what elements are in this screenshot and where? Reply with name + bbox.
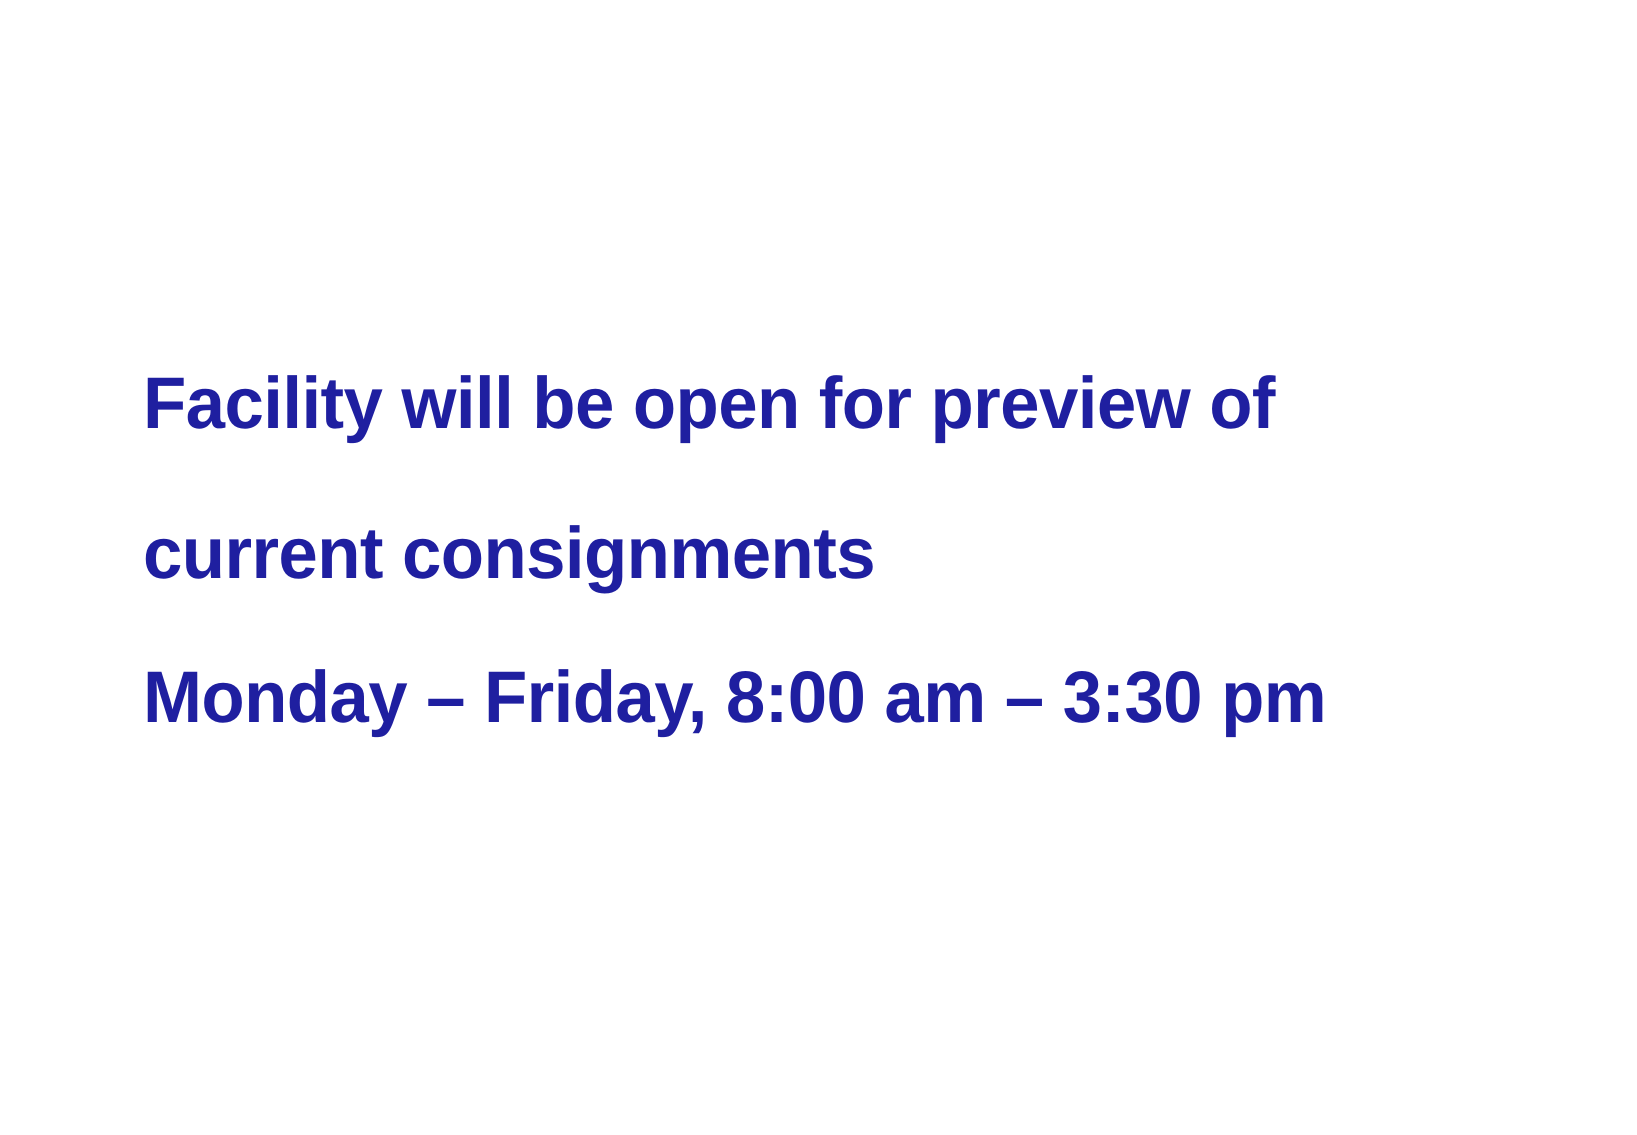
notice-line-days-and-hours: Monday – Friday, 8:00 am – 3:30 pm — [143, 624, 1540, 772]
notice-line-facility-open: Facility will be open for preview of — [143, 330, 1540, 478]
notice-line-current-consignments: current consignments — [143, 480, 1540, 628]
facility-hours-notice: Facility will be open for preview of cur… — [143, 330, 1583, 772]
slide-canvas: Facility will be open for preview of cur… — [0, 0, 1637, 1135]
